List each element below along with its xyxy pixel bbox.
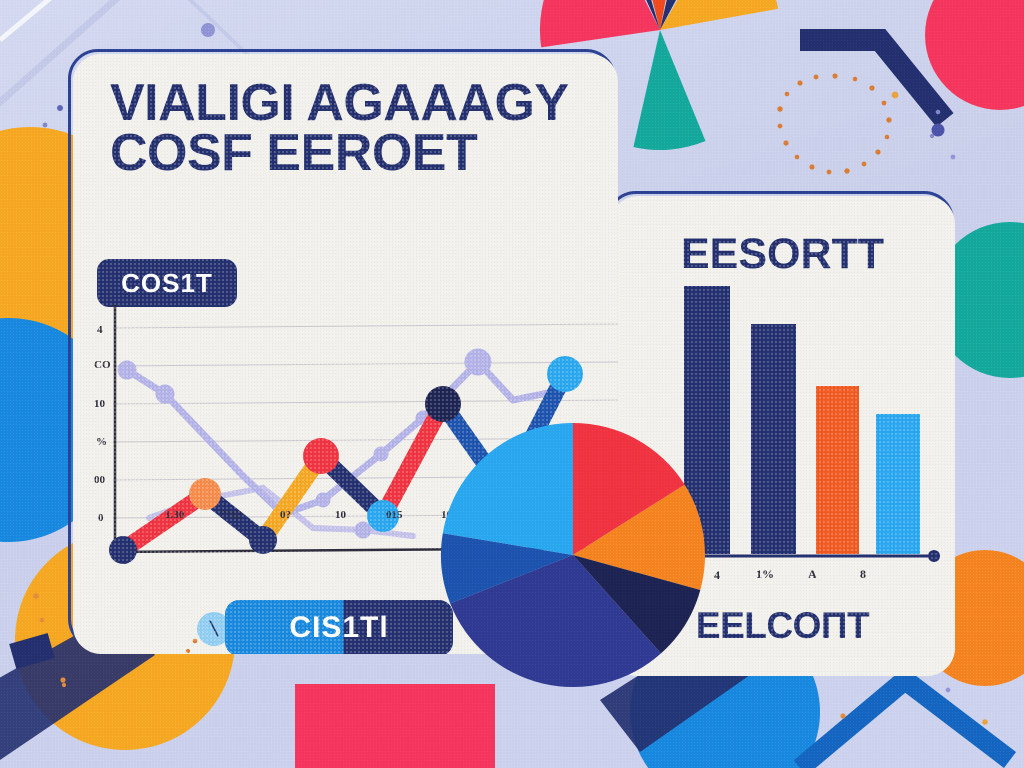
infographic-canvas: EESORTT 4 1% A 8 EELCOПT [0, 0, 1024, 768]
grain-overlay [0, 0, 1024, 768]
